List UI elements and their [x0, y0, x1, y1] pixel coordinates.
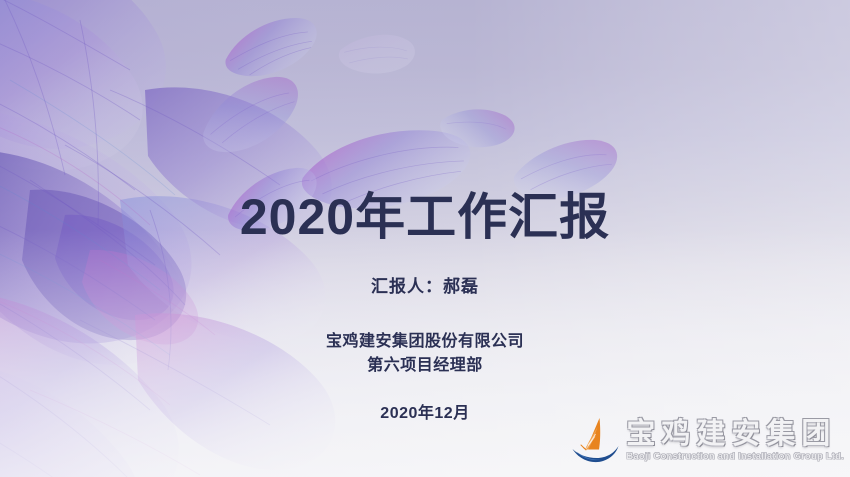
presentation-slide: 2020年工作汇报 汇报人：郝磊 宝鸡建安集团股份有限公司 第六项目经理部 20…	[0, 0, 850, 477]
logo-english-name: Baoji Construction and Installation Grou…	[626, 452, 844, 462]
logo-chinese-name: 宝鸡建安集团	[626, 420, 844, 449]
company-block: 宝鸡建安集团股份有限公司 第六项目经理部	[0, 330, 850, 378]
page-title: 2020年工作汇报	[0, 192, 850, 242]
company-logo: 宝鸡建安集团 Baoji Construction and Installati…	[566, 410, 844, 472]
sailboat-icon	[566, 415, 622, 467]
presenter-line: 汇报人：郝磊	[0, 272, 850, 297]
department-name: 第六项目经理部	[0, 354, 850, 378]
company-name: 宝鸡建安集团股份有限公司	[0, 330, 850, 354]
logo-text-block: 宝鸡建安集团 Baoji Construction and Installati…	[626, 420, 844, 462]
